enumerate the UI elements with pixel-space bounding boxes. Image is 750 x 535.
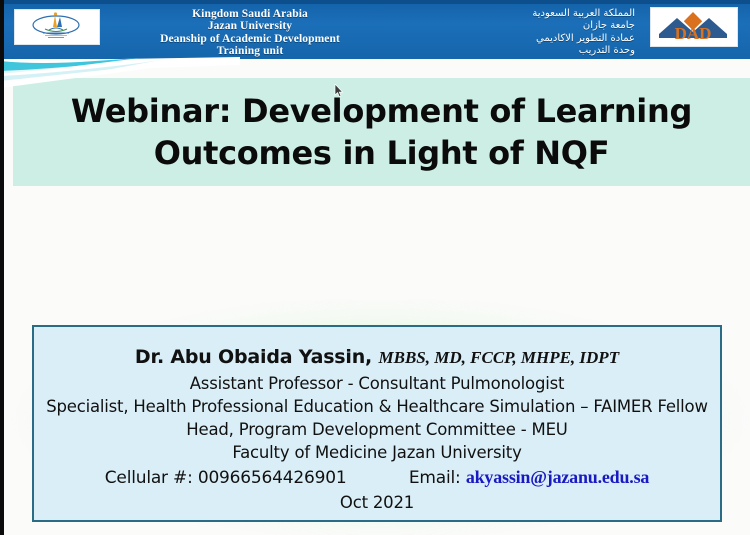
left-edge-strip xyxy=(0,0,4,535)
header-english-text: Kingdom Saudi Arabia Jazan University De… xyxy=(105,8,395,58)
header-en-line-1: Kingdom Saudi Arabia xyxy=(105,8,395,20)
presenter-role: Assistant Professor - Consultant Pulmono… xyxy=(34,372,720,395)
header-ar-line-1: المملكة العربية السعودية xyxy=(420,8,635,20)
header-arabic-text: المملكة العربية السعودية جامعة جازان عما… xyxy=(420,8,635,57)
header-ar-line-3: عمادة التطوير الاكاديمي xyxy=(420,33,635,45)
slide-header: Kingdom Saudi Arabia Jazan University De… xyxy=(0,0,750,59)
header-ar-line-2: جامعة جازان xyxy=(420,20,635,32)
title-line-1: Webinar: Development of Learning xyxy=(71,92,692,130)
header-ar-line-4: وحدة التدريب xyxy=(420,45,635,57)
presenter-contact-line: Cellular #: 00966564426901 Email: akyass… xyxy=(34,466,720,490)
presenter-info-box: Dr. Abu Obaida Yassin, MBBS, MD, FCCP, M… xyxy=(32,325,722,522)
page-title: Webinar: Development of Learning Outcome… xyxy=(32,90,732,174)
presentation-slide: Kingdom Saudi Arabia Jazan University De… xyxy=(0,0,750,535)
header-en-line-3: Deanship of Academic Development xyxy=(105,33,395,45)
presenter-cellular: Cellular #: 00966564426901 xyxy=(105,468,347,488)
header-en-line-2: Jazan University xyxy=(105,20,395,32)
presentation-date: Oct 2021 xyxy=(34,491,720,514)
presenter-position: Head, Program Development Committee - ME… xyxy=(34,418,720,441)
svg-text:DAD: DAD xyxy=(675,24,712,43)
slide-title-band: Webinar: Development of Learning Outcome… xyxy=(13,78,750,186)
presenter-credentials: MBBS, MD, FCCP, MHPE, IDPT xyxy=(379,348,620,367)
dad-deanship-logo: DAD xyxy=(650,7,738,47)
jazan-university-logo xyxy=(14,9,100,45)
header-top-line xyxy=(0,0,750,4)
presenter-name: Dr. Abu Obaida Yassin, xyxy=(135,346,372,368)
swoosh-decoration xyxy=(0,55,300,89)
mouse-cursor-icon xyxy=(334,84,344,103)
presenter-specialty: Specialist, Health Professional Educatio… xyxy=(34,395,720,418)
presenter-email-link[interactable]: akyassin@jazanu.edu.sa xyxy=(466,467,649,487)
email-label: Email: xyxy=(409,468,461,488)
presenter-affiliation: Faculty of Medicine Jazan University xyxy=(34,441,720,464)
title-line-2: Outcomes in Light of NQF xyxy=(32,132,732,174)
presenter-name-line: Dr. Abu Obaida Yassin, MBBS, MD, FCCP, M… xyxy=(34,343,720,372)
